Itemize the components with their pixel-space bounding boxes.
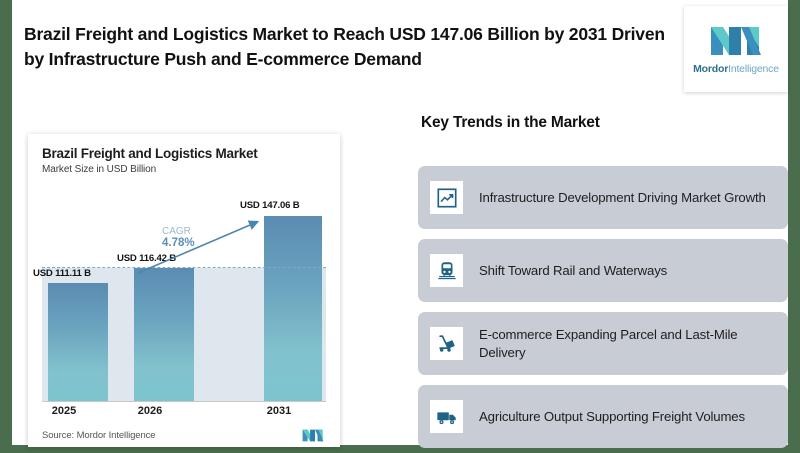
- trend-label: Agriculture Output Supporting Freight Vo…: [479, 408, 755, 425]
- chart-trending-up-icon: [430, 181, 463, 214]
- trend-label: Shift Toward Rail and Waterways: [479, 262, 677, 279]
- trend-card-agriculture-freight[interactable]: Agriculture Output Supporting Freight Vo…: [418, 385, 788, 448]
- x-tick-2026: 2026: [115, 405, 185, 417]
- mordor-logo-mark: [707, 23, 765, 59]
- logo-word-mordor: Mordor: [693, 63, 728, 75]
- trend-label: E-commerce Expanding Parcel and Last-Mil…: [479, 326, 788, 361]
- logo-wordmark: MordorIntelligence: [693, 63, 779, 75]
- logo-word-intelligence: Intelligence: [728, 63, 779, 75]
- chart-source-text: Source: Mordor Intelligence: [42, 430, 155, 441]
- trend-label: Infrastructure Development Driving Marke…: [479, 189, 776, 206]
- x-tick-2025: 2025: [29, 405, 99, 417]
- chart-card: Brazil Freight and Logistics Market Mark…: [28, 134, 340, 447]
- chart-source-row: Source: Mordor Intelligence: [42, 428, 326, 443]
- page-headline: Brazil Freight and Logistics Market to R…: [24, 22, 674, 72]
- delivery-truck-icon: [430, 400, 463, 433]
- trend-card-infrastructure[interactable]: Infrastructure Development Driving Marke…: [418, 166, 788, 229]
- mordor-intelligence-logo: MordorIntelligence: [684, 6, 788, 92]
- bar-chart-plot: USD 111.11 B USD 116.42 B USD 147.06 B C…: [42, 196, 326, 401]
- hand-truck-icon: [430, 327, 463, 360]
- chart-title: Brazil Freight and Logistics Market: [42, 146, 326, 161]
- growth-arrow: [42, 196, 326, 401]
- x-axis-line: [42, 401, 326, 402]
- chart-subtitle: Market Size in USD Billion: [42, 164, 326, 175]
- x-tick-2031: 2031: [244, 405, 314, 417]
- train-icon: [430, 254, 463, 287]
- page-canvas: Brazil Freight and Logistics Market to R…: [12, 0, 788, 445]
- trend-card-rail-waterways[interactable]: Shift Toward Rail and Waterways: [418, 239, 788, 302]
- key-trends-title: Key Trends in the Market: [421, 114, 600, 132]
- trend-card-ecommerce-parcel[interactable]: E-commerce Expanding Parcel and Last-Mil…: [418, 312, 788, 375]
- mordor-logo-mark-small: [300, 428, 326, 443]
